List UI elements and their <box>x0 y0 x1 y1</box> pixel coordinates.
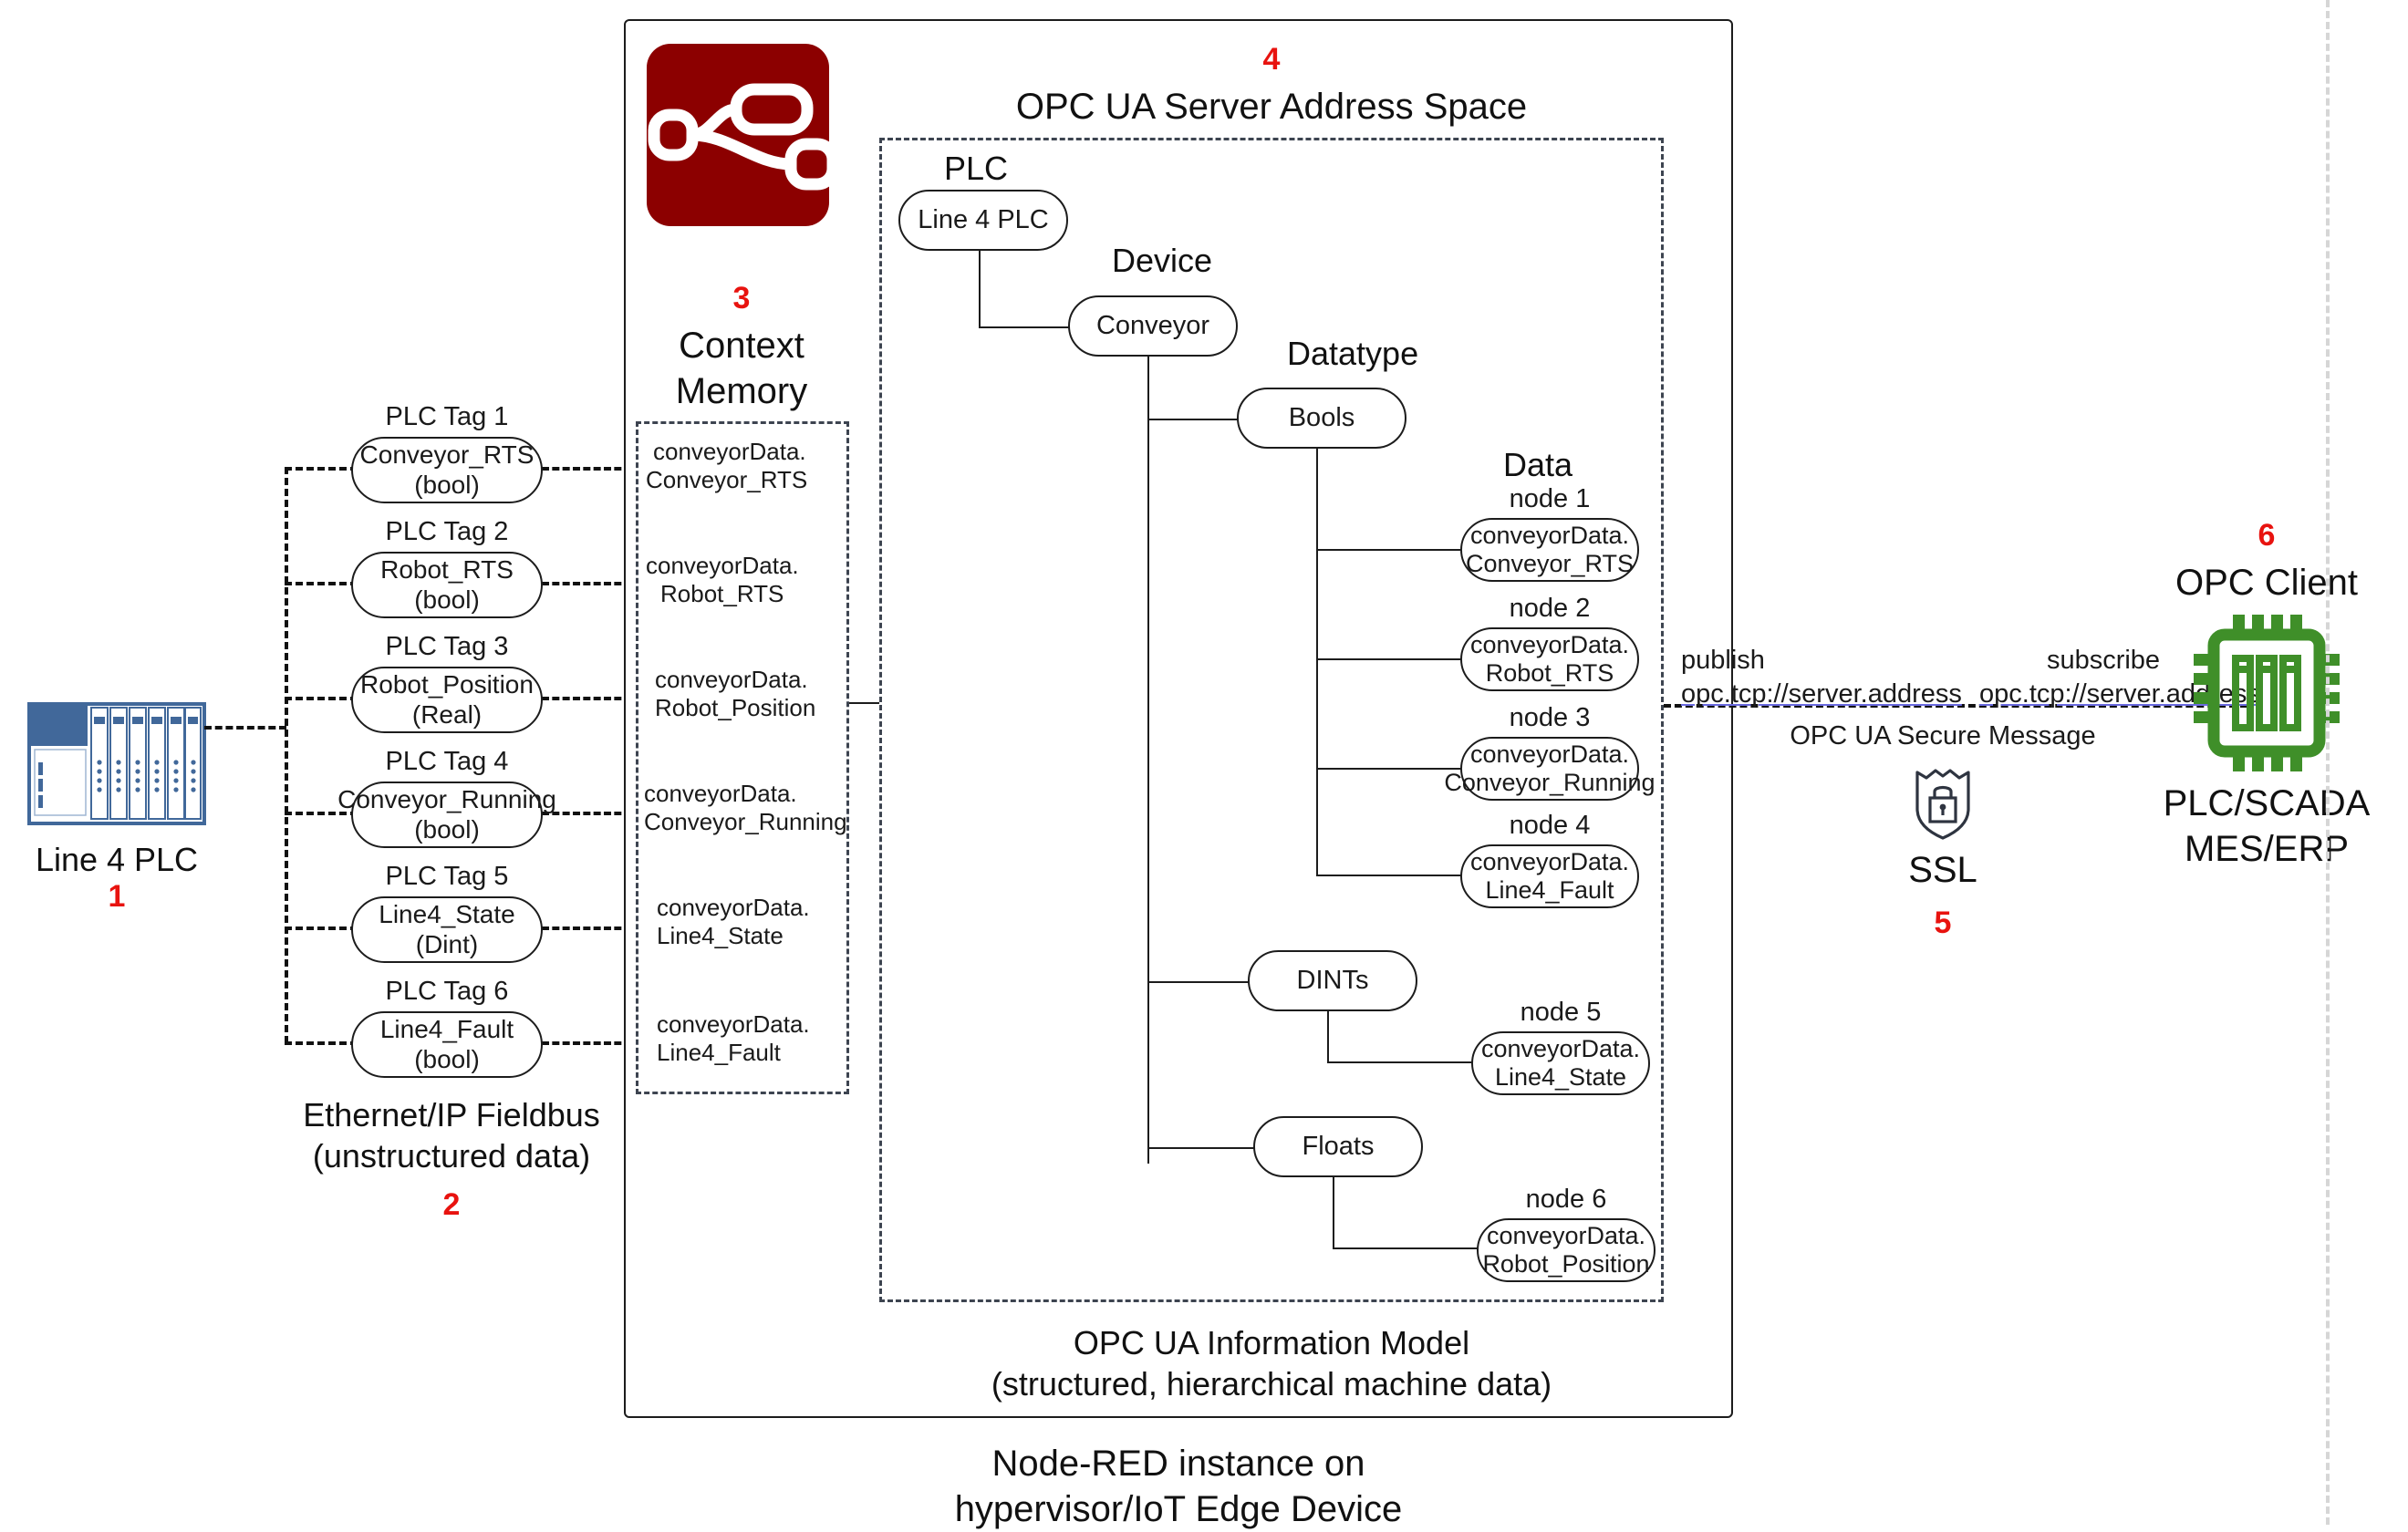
cpu-chip-svg <box>2194 615 2340 771</box>
context-memory-entry-6: conveyorData. Line4_Fault <box>646 1010 846 1067</box>
plc-tag-5-type: (Dint) <box>416 930 478 959</box>
plc-tag-6-pill[interactable]: Line4_Fault (bool) <box>351 1011 543 1078</box>
tree-node-bools[interactable]: Bools <box>1237 388 1406 449</box>
tree-node-conveyor[interactable]: Conveyor <box>1068 295 1238 357</box>
ctx-entry-4-prefix: conveyorData. <box>644 780 850 808</box>
data-node-1-prefix: conveyorData. <box>1470 522 1629 550</box>
context-memory-entry-1: conveyorData. Conveyor_RTS <box>646 438 846 494</box>
right-boundary-divider <box>2326 0 2330 1525</box>
plc-tag-2-pill[interactable]: Robot_RTS (bool) <box>351 552 543 618</box>
plc-source-label: Line 4 PLC <box>7 839 226 880</box>
plc-tag-1-name: Conveyor_RTS <box>360 440 535 470</box>
tree-node-floats[interactable]: Floats <box>1253 1116 1423 1177</box>
bus-stub-tag-6 <box>285 1041 358 1045</box>
plc-tag-6-label: PLC Tag 6 <box>351 976 543 1008</box>
data-node-1-label: node 1 <box>1460 483 1639 515</box>
ctx-entry-3-suffix: Robot_Position <box>646 694 846 722</box>
context-memory-entry-2: conveyorData. Robot_RTS <box>646 552 846 608</box>
node-red-logo-svg <box>647 44 829 226</box>
data-node-3-pill[interactable]: conveyorData. Conveyor_Running <box>1460 737 1639 801</box>
data-node-1-suffix: Conveyor_RTS <box>1466 550 1634 578</box>
step-number-6: 6 <box>2153 520 2381 551</box>
data-node-6-suffix: Robot_Position <box>1482 1250 1649 1278</box>
plc-tag-4-group: PLC Tag 4 Conveyor_Running (bool) <box>351 746 543 848</box>
fieldbus-caption-line1: Ethernet/IP Fieldbus <box>278 1094 625 1135</box>
data-node-5-label: node 5 <box>1471 997 1650 1029</box>
ctx-entry-4-suffix: Conveyor_Running <box>644 808 850 836</box>
data-node-3-group: node 3 conveyorData. Conveyor_Running <box>1460 702 1639 801</box>
data-node-1-group: node 1 conveyorData. Conveyor_RTS <box>1460 483 1639 582</box>
data-node-6-prefix: conveyorData. <box>1487 1222 1645 1250</box>
tree-node-plc[interactable]: Line 4 PLC <box>898 190 1068 251</box>
plc-tag-5-label: PLC Tag 5 <box>351 861 543 893</box>
plc-to-conveyor-h <box>979 326 1070 328</box>
bools-trunk-v <box>1316 449 1318 876</box>
plc-tag-1-pill[interactable]: Conveyor_RTS (bool) <box>351 437 543 503</box>
data-node-3-label: node 3 <box>1460 702 1639 734</box>
tree-node-dints[interactable]: DINTs <box>1248 950 1417 1011</box>
bus-stub-tag-3 <box>285 697 358 700</box>
bools-to-node1-h <box>1316 549 1462 551</box>
floats-to-node6-h <box>1333 1247 1479 1249</box>
ctx-entry-5-prefix: conveyorData. <box>646 894 846 922</box>
plc-tag-2-name: Robot_RTS <box>380 555 514 585</box>
ctx-entry-6-suffix: Line4_Fault <box>646 1039 846 1067</box>
shield-lock-svg <box>1910 763 1976 840</box>
plc-tag-1-label: PLC Tag 1 <box>351 401 543 433</box>
node-red-logo <box>647 44 829 226</box>
bus-stub-tag-5 <box>285 926 358 930</box>
information-model-caption-line2: (structured, hierarchical machine data) <box>879 1363 1664 1404</box>
address-space-header: 4 OPC UA Server Address Space <box>879 44 1664 129</box>
data-node-2-group: node 2 conveyorData. Robot_RTS <box>1460 593 1639 691</box>
data-node-2-label: node 2 <box>1460 593 1639 625</box>
shield-lock-icon <box>1779 763 2107 840</box>
plc-to-bus-line <box>204 726 286 730</box>
ctx-to-addressspace-line <box>849 702 879 704</box>
dints-trunk-v <box>1327 1011 1329 1063</box>
fieldbus-caption: Ethernet/IP Fieldbus (unstructured data)… <box>278 1094 625 1220</box>
publish-label: publish <box>1681 645 1955 677</box>
data-node-2-suffix: Robot_RTS <box>1486 659 1614 688</box>
node-red-caption-line1: Node-RED instance on <box>624 1441 1733 1486</box>
information-model-caption-line1: OPC UA Information Model <box>879 1322 1664 1363</box>
opc-client-group: 6 OPC Client PLC/SCADA <box>2153 520 2381 872</box>
plc-tag-1-type: (bool) <box>414 471 480 500</box>
context-memory-entry-5: conveyorData. Line4_State <box>646 894 846 950</box>
plc-tag-2-label: PLC Tag 2 <box>351 516 543 548</box>
context-memory-title-line1: Context <box>638 323 845 368</box>
conveyor-to-bools-h <box>1147 419 1239 420</box>
plc-tag-1-group: PLC Tag 1 Conveyor_RTS (bool) <box>351 401 543 503</box>
dints-to-node5-h <box>1327 1061 1473 1063</box>
conveyor-to-floats-h <box>1147 1147 1255 1149</box>
plc-tag-6-group: PLC Tag 6 Line4_Fault (bool) <box>351 976 543 1078</box>
step-number-4: 4 <box>879 44 1664 75</box>
data-node-4-suffix: Line4_Fault <box>1485 876 1614 905</box>
data-node-4-pill[interactable]: conveyorData. Line4_Fault <box>1460 844 1639 908</box>
publish-address[interactable]: opc.tcp://server.address <box>1681 678 1955 710</box>
bools-to-node3-h <box>1316 768 1462 770</box>
conveyor-to-dints-h <box>1147 981 1250 983</box>
data-node-2-pill[interactable]: conveyorData. Robot_RTS <box>1460 627 1639 691</box>
data-node-4-label: node 4 <box>1460 810 1639 842</box>
ctx-entry-2-suffix: Robot_RTS <box>646 580 846 608</box>
cpu-chip-icon <box>2153 615 2381 771</box>
ctx-entry-1-suffix: Conveyor_RTS <box>646 466 846 494</box>
conveyor-trunk-v <box>1147 357 1149 1164</box>
floats-trunk-v <box>1333 1177 1334 1249</box>
secure-message-group: OPC UA Secure Message SSL 5 <box>1779 720 2107 938</box>
step-number-5: 5 <box>1779 907 2107 938</box>
plc-tag-6-name: Line4_Fault <box>380 1015 514 1044</box>
plc-tag-4-pill[interactable]: Conveyor_Running (bool) <box>351 782 543 848</box>
fieldbus-caption-line2: (unstructured data) <box>278 1135 625 1176</box>
plc-tag-6-type: (bool) <box>414 1045 480 1074</box>
data-node-3-suffix: Conveyor_Running <box>1444 769 1655 797</box>
data-node-5-group: node 5 conveyorData. Line4_State <box>1471 997 1650 1095</box>
context-memory-entry-3: conveyorData. Robot_Position <box>646 666 846 722</box>
plc-tag-3-label: PLC Tag 3 <box>351 631 543 663</box>
node-red-caption: Node-RED instance on hypervisor/IoT Edge… <box>624 1441 1733 1532</box>
ctx-entry-5-suffix: Line4_State <box>646 922 846 950</box>
data-node-6-pill[interactable]: conveyorData. Robot_Position <box>1477 1218 1655 1282</box>
node-red-caption-line2: hypervisor/IoT Edge Device <box>624 1486 1733 1532</box>
data-node-6-group: node 6 conveyorData. Robot_Position <box>1477 1184 1655 1282</box>
data-node-5-prefix: conveyorData. <box>1481 1035 1640 1063</box>
opc-client-title: OPC Client <box>2153 560 2381 606</box>
context-memory-header: 3 Context Memory <box>638 283 845 414</box>
ctx-entry-1-prefix: conveyorData. <box>646 438 846 466</box>
plc-tag-3-name: Robot_Position <box>360 670 534 699</box>
plc-rack-svg <box>31 706 202 822</box>
level-label-device: Device <box>1112 240 1212 281</box>
bus-stub-tag-1 <box>285 467 358 471</box>
bools-to-node2-h <box>1316 658 1462 660</box>
information-model-caption: OPC UA Information Model (structured, hi… <box>879 1322 1664 1404</box>
ctx-entry-2-prefix: conveyorData. <box>646 552 846 580</box>
context-memory-entry-4: conveyorData. Conveyor_Running <box>644 780 850 836</box>
plc-tag-5-name: Line4_State <box>379 900 514 929</box>
secure-message-label: OPC UA Secure Message <box>1779 720 2107 752</box>
data-node-4-group: node 4 conveyorData. Line4_Fault <box>1460 810 1639 908</box>
level-label-data: Data <box>1503 444 1572 485</box>
plc-tag-3-type: (Real) <box>412 700 482 730</box>
data-node-5-pill[interactable]: conveyorData. Line4_State <box>1471 1031 1650 1095</box>
plc-to-conveyor-v <box>979 251 981 328</box>
opc-client-caption-line2: MES/ERP <box>2153 826 2381 872</box>
ssl-label: SSL <box>1779 847 2107 893</box>
plc-tag-3-pill[interactable]: Robot_Position (Real) <box>351 667 543 733</box>
step-number-1: 1 <box>7 881 226 912</box>
ctx-entry-6-prefix: conveyorData. <box>646 1010 846 1039</box>
fieldbus-trunk <box>285 467 288 1043</box>
data-node-5-suffix: Line4_State <box>1495 1063 1626 1092</box>
level-label-plc: PLC <box>944 148 1008 189</box>
context-memory-box <box>636 421 849 1094</box>
address-space-title: OPC UA Server Address Space <box>879 84 1664 129</box>
bus-stub-tag-2 <box>285 582 358 585</box>
plc-tag-4-name: Conveyor_Running <box>337 785 556 814</box>
data-node-1-pill[interactable]: conveyorData. Conveyor_RTS <box>1460 518 1639 582</box>
plc-tag-5-group: PLC Tag 5 Line4_State (Dint) <box>351 861 543 963</box>
plc-tag-2-type: (bool) <box>414 585 480 615</box>
step-number-2: 2 <box>278 1189 625 1220</box>
data-node-4-prefix: conveyorData. <box>1470 848 1629 876</box>
plc-tag-5-pill[interactable]: Line4_State (Dint) <box>351 896 543 963</box>
opc-client-caption-line1: PLC/SCADA <box>2153 781 2381 826</box>
plc-tag-3-group: PLC Tag 3 Robot_Position (Real) <box>351 631 543 733</box>
data-node-2-prefix: conveyorData. <box>1470 631 1629 659</box>
data-node-3-prefix: conveyorData. <box>1470 740 1629 769</box>
bools-to-node4-h <box>1316 875 1462 876</box>
level-label-datatype: Datatype <box>1287 333 1418 374</box>
context-memory-title-line2: Memory <box>638 368 845 414</box>
publish-group: publish opc.tcp://server.address <box>1681 645 1955 711</box>
data-node-6-label: node 6 <box>1477 1184 1655 1216</box>
plc-tag-4-label: PLC Tag 4 <box>351 746 543 778</box>
ctx-entry-3-prefix: conveyorData. <box>646 666 846 694</box>
plc-rack-icon <box>27 702 206 825</box>
step-number-3: 3 <box>638 283 845 314</box>
plc-tag-2-group: PLC Tag 2 Robot_RTS (bool) <box>351 516 543 618</box>
plc-tag-4-type: (bool) <box>414 815 480 844</box>
